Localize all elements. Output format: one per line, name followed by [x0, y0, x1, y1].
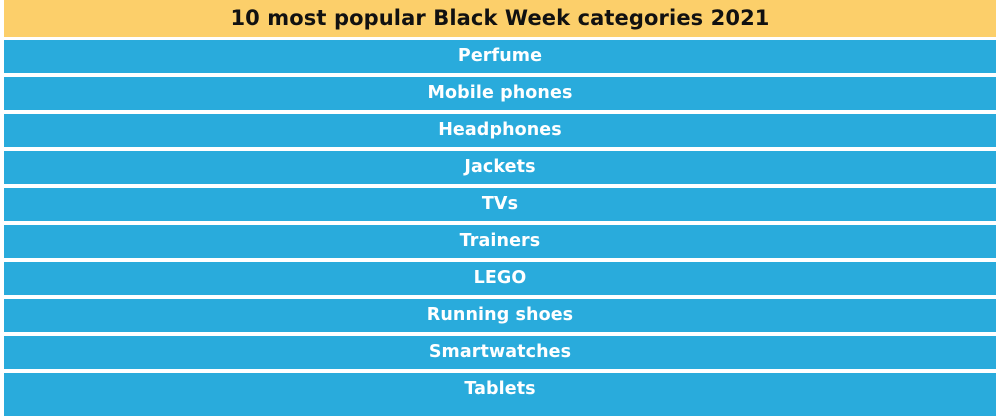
bar-row-7[interactable]: LEGO	[4, 262, 996, 295]
chart-title-band: 10 most popular Black Week categories 20…	[4, 0, 996, 37]
chart-bars-area: Perfume Mobile phones Headphones Jackets…	[0, 40, 1000, 416]
bar-row-9[interactable]: Smartwatches	[4, 336, 996, 369]
bar-row-2[interactable]: Mobile phones	[4, 77, 996, 110]
bar-row-3[interactable]: Headphones	[4, 114, 996, 147]
bar-row-10[interactable]: Tablets	[4, 373, 996, 416]
bar-row-6[interactable]: Trainers	[4, 225, 996, 258]
bar-label-perfume: Perfume	[458, 48, 542, 66]
bar-label-tvs: TVs	[482, 196, 518, 214]
bar-label-jackets: Jackets	[464, 159, 535, 177]
bar-label-tablets: Tablets	[464, 381, 535, 399]
bar-row-1[interactable]: Perfume	[4, 40, 996, 73]
bar-label-headphones: Headphones	[438, 122, 562, 140]
bar-label-lego: LEGO	[474, 270, 527, 288]
bar-row-5[interactable]: TVs	[4, 188, 996, 221]
ranked-category-chart: 10 most popular Black Week categories 20…	[0, 0, 1000, 416]
chart-title: 10 most popular Black Week categories 20…	[230, 8, 769, 29]
bar-label-running-shoes: Running shoes	[427, 307, 573, 325]
bar-label-smartwatches: Smartwatches	[429, 344, 571, 362]
bar-row-4[interactable]: Jackets	[4, 151, 996, 184]
bar-label-mobile-phones: Mobile phones	[428, 85, 573, 103]
bar-row-8[interactable]: Running shoes	[4, 299, 996, 332]
bar-label-trainers: Trainers	[460, 233, 541, 251]
